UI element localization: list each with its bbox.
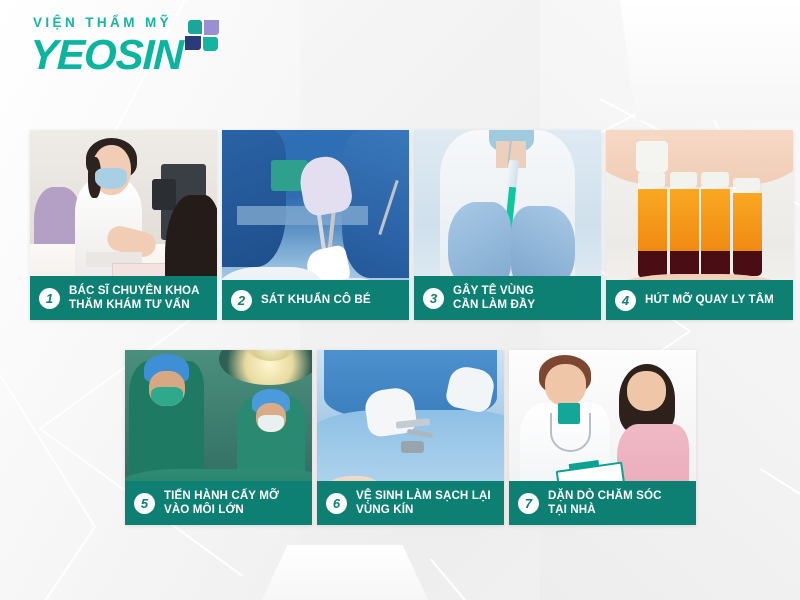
step-label-2: 2 SÁT KHUẨN CÔ BÉ bbox=[222, 280, 409, 320]
step-label-text: HÚT MỠ QUAY LY TÂM bbox=[645, 293, 774, 307]
step-card-7[interactable]: 7 DẶN DÒ CHĂM SÓC TẠI NHÀ bbox=[509, 350, 696, 525]
step-number-badge: 4 bbox=[615, 290, 636, 311]
step-label-7: 7 DẶN DÒ CHĂM SÓC TẠI NHÀ bbox=[509, 481, 696, 525]
step-label-6: 6 VỆ SINH LÀM SẠCH LẠI VÙNG KÍN bbox=[317, 481, 504, 525]
step-label-text: DẶN DÒ CHĂM SÓC TẠI NHÀ bbox=[548, 489, 662, 517]
step-number-badge: 5 bbox=[134, 493, 155, 514]
step-card-3[interactable]: 3 GÂY TÊ VÙNG CẦN LÀM ĐẦY bbox=[414, 130, 601, 320]
step-card-1[interactable]: 1 BÁC SĨ CHUYÊN KHOA THĂM KHÁM TƯ VẤN bbox=[30, 130, 217, 320]
step-label-text: VỆ SINH LÀM SẠCH LẠI VÙNG KÍN bbox=[356, 489, 491, 517]
step-label-text: SÁT KHUẨN CÔ BÉ bbox=[261, 293, 371, 307]
step-card-4[interactable]: 4 HÚT MỠ QUAY LY TÂM bbox=[606, 130, 793, 320]
step-label-1: 1 BÁC SĨ CHUYÊN KHOA THĂM KHÁM TƯ VẤN bbox=[30, 276, 217, 320]
medical-cross-icon bbox=[182, 20, 222, 60]
step-card-2[interactable]: 2 SÁT KHUẨN CÔ BÉ bbox=[222, 130, 409, 320]
step-label-text: BÁC SĨ CHUYÊN KHOA THĂM KHÁM TƯ VẤN bbox=[69, 284, 200, 312]
steps-row-2: 5 TIẾN HÀNH CẤY MỠ VÀO MÔI LỚN 6 VỆ SINH… bbox=[125, 350, 696, 525]
step-number-badge: 3 bbox=[423, 288, 444, 309]
step-label-3: 3 GÂY TÊ VÙNG CẦN LÀM ĐẦY bbox=[414, 276, 601, 320]
step-label-5: 5 TIẾN HÀNH CẤY MỠ VÀO MÔI LỚN bbox=[125, 481, 312, 525]
brand-logo[interactable]: VIỆN THẨM MỸ YEOSIN bbox=[30, 16, 250, 86]
step-card-6[interactable]: 6 VỆ SINH LÀM SẠCH LẠI VÙNG KÍN bbox=[317, 350, 504, 525]
infographic-canvas: VIỆN THẨM MỸ YEOSIN bbox=[0, 0, 800, 600]
steps-row-1: 1 BÁC SĨ CHUYÊN KHOA THĂM KHÁM TƯ VẤN 2 … bbox=[30, 130, 793, 320]
step-number-badge: 6 bbox=[326, 493, 347, 514]
step-card-5[interactable]: 5 TIẾN HÀNH CẤY MỠ VÀO MÔI LỚN bbox=[125, 350, 312, 525]
step-label-text: GÂY TÊ VÙNG CẦN LÀM ĐẦY bbox=[453, 284, 535, 312]
step-label-text: TIẾN HÀNH CẤY MỠ VÀO MÔI LỚN bbox=[164, 489, 279, 517]
step-number-badge: 7 bbox=[518, 493, 539, 514]
step-number-badge: 1 bbox=[39, 288, 60, 309]
step-label-4: 4 HÚT MỠ QUAY LY TÂM bbox=[606, 280, 793, 320]
step-number-badge: 2 bbox=[231, 290, 252, 311]
